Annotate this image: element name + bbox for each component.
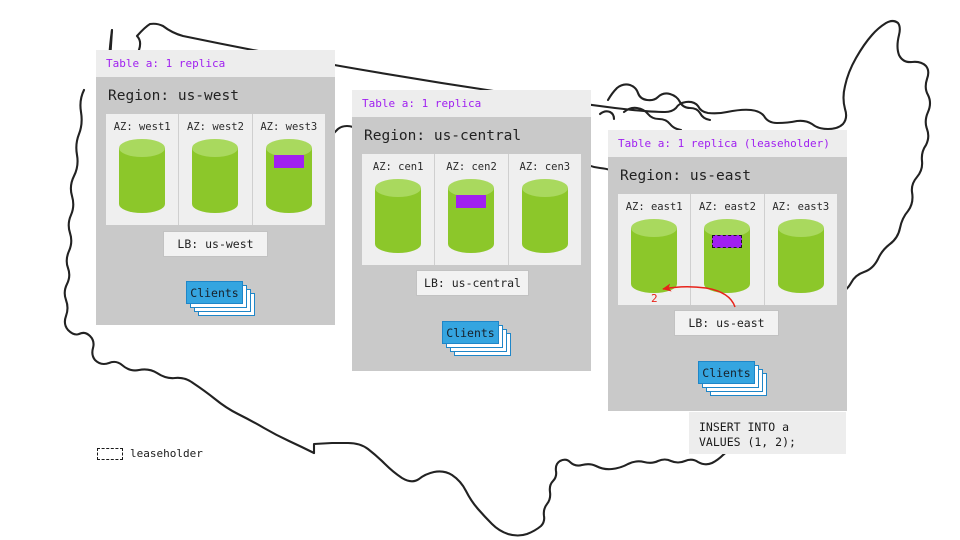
replica-strip-us-west: Table a: 1 replica: [96, 50, 335, 77]
diagram-canvas: Table a: 1 replicaRegion: us-westAZ: wes…: [0, 0, 960, 540]
database-node-cylinder-icon[interactable]: [448, 179, 494, 253]
az-cell-cen1[interactable]: AZ: cen1: [362, 154, 435, 265]
az-cell-cen2[interactable]: AZ: cen2: [435, 154, 508, 265]
az-strip-us-central: AZ: cen1 AZ: cen2 AZ: cen3: [362, 154, 581, 265]
clients-button-face[interactable]: Clients: [442, 321, 499, 344]
load-balancer-label: LB: us-central: [424, 276, 521, 290]
dashed-rect-icon: [97, 448, 123, 460]
database-node-cylinder-icon[interactable]: [119, 139, 165, 213]
arrow-step-label: 2: [651, 293, 658, 304]
region-title: Region: us-west: [96, 77, 335, 114]
load-balancer-box-us-west[interactable]: LB: us-west: [163, 231, 268, 257]
replica-icon: [274, 155, 304, 168]
load-balancer-label: LB: us-west: [177, 237, 253, 251]
az-label: AZ: west1: [114, 121, 171, 133]
load-balancer-label: LB: us-east: [688, 316, 764, 330]
clients-button-us-east[interactable]: Clients: [698, 361, 767, 396]
az-label: AZ: cen3: [520, 161, 571, 173]
table-replica-label: Table a: 1 replica: [106, 58, 325, 70]
database-node-cylinder-icon[interactable]: [778, 219, 824, 293]
az-cell-east3[interactable]: AZ: east3: [765, 194, 837, 305]
az-strip-us-east: AZ: east1 AZ: east2 AZ: east3: [618, 194, 837, 305]
replica-strip-us-central: Table a: 1 replica: [352, 90, 591, 117]
legend-label: leaseholder: [130, 447, 203, 460]
az-cell-west2[interactable]: AZ: west2: [179, 114, 252, 225]
clients-button-us-west[interactable]: Clients: [186, 281, 255, 316]
database-node-cylinder-icon[interactable]: [192, 139, 238, 213]
clients-button-face[interactable]: Clients: [186, 281, 243, 304]
database-node-cylinder-icon[interactable]: [375, 179, 421, 253]
database-node-cylinder-icon[interactable]: [631, 219, 677, 293]
replica-strip-us-east: Table a: 1 replica (leaseholder): [608, 130, 847, 157]
database-node-cylinder-icon[interactable]: [266, 139, 312, 213]
az-cell-west1[interactable]: AZ: west1: [106, 114, 179, 225]
table-replica-label: Table a: 1 replica: [362, 98, 581, 110]
replica-icon: [456, 195, 486, 208]
region-title: Region: us-east: [608, 157, 847, 194]
clients-button-us-central[interactable]: Clients: [442, 321, 511, 356]
clients-button-face[interactable]: Clients: [698, 361, 755, 384]
load-balancer-box-us-east[interactable]: LB: us-east: [674, 310, 779, 336]
az-label: AZ: east1: [626, 201, 683, 213]
az-label: AZ: west2: [187, 121, 244, 133]
az-strip-us-west: AZ: west1 AZ: west2 AZ: west3: [106, 114, 325, 225]
az-label: AZ: east2: [699, 201, 756, 213]
az-label: AZ: east3: [772, 201, 829, 213]
az-cell-east1[interactable]: AZ: east1: [618, 194, 691, 305]
region-title: Region: us-central: [352, 117, 591, 154]
az-cell-west3[interactable]: AZ: west3: [253, 114, 325, 225]
leaseholder-replica-icon: [712, 235, 742, 248]
az-cell-cen3[interactable]: AZ: cen3: [509, 154, 581, 265]
az-label: AZ: west3: [260, 121, 317, 133]
az-cell-east2[interactable]: AZ: east2: [691, 194, 764, 305]
database-node-cylinder-icon[interactable]: [522, 179, 568, 253]
clients-button-label: Clients: [190, 286, 238, 300]
clients-button-label: Clients: [702, 366, 750, 380]
database-node-cylinder-icon[interactable]: [704, 219, 750, 293]
table-replica-label: Table a: 1 replica (leaseholder): [618, 138, 837, 150]
legend: leaseholder: [97, 447, 203, 460]
sql-statement-box: INSERT INTO a VALUES (1, 2);: [689, 412, 846, 454]
az-label: AZ: cen2: [446, 161, 497, 173]
load-balancer-box-us-central[interactable]: LB: us-central: [416, 270, 529, 296]
az-label: AZ: cen1: [373, 161, 424, 173]
clients-button-label: Clients: [446, 326, 494, 340]
